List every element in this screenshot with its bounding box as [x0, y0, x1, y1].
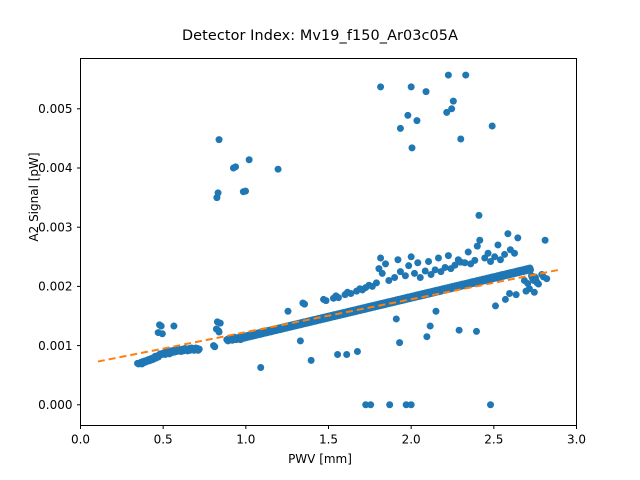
x-tick-label: 1.0: [236, 433, 255, 447]
scatter-point: [408, 144, 415, 151]
scatter-point: [404, 112, 411, 119]
scatter-point: [531, 289, 538, 296]
scatter-point: [367, 401, 374, 408]
y-tick-label: 0.000: [38, 398, 72, 412]
scatter-point: [417, 274, 424, 281]
figure-canvas: Detector Index: Mv19_f150_Ar03c05A A2 Si…: [0, 0, 640, 480]
scatter-point: [159, 330, 166, 337]
scatter-point: [413, 117, 420, 124]
scatter-point: [489, 122, 496, 129]
scatter-point: [170, 323, 177, 330]
scatter-point: [442, 264, 449, 271]
scatter-point: [465, 249, 472, 256]
scatter-point: [513, 291, 520, 298]
scatter-point: [391, 274, 398, 281]
scatter-point: [377, 83, 384, 90]
scatter-point: [257, 364, 264, 371]
scatter-point: [492, 302, 499, 309]
y-tick-label: 0.005: [38, 102, 72, 116]
scatter-point: [501, 251, 508, 258]
scatter-point: [435, 254, 442, 261]
scatter-point: [297, 337, 304, 344]
scatter-point: [196, 346, 203, 353]
scatter-point: [211, 343, 218, 350]
scatter-point: [422, 268, 429, 275]
x-tick-label: 2.0: [402, 433, 421, 447]
scatter-point: [382, 260, 389, 267]
scatter-point: [246, 156, 253, 163]
scatter-point: [445, 72, 452, 79]
y-axis-ticks: 0.0000.0010.0020.0030.0040.005: [38, 102, 80, 412]
axes-frame: [81, 59, 577, 426]
scatter-point: [543, 275, 550, 282]
scatter-point: [542, 237, 549, 244]
scatter-point: [397, 125, 404, 132]
scatter-point: [502, 296, 509, 303]
scatter-point: [301, 301, 308, 308]
x-tick-label: 0.0: [71, 433, 90, 447]
scatter-point: [450, 98, 457, 105]
scatter-point: [476, 237, 483, 244]
scatter-plot: 0.00.51.01.52.02.53.0 0.0000.0010.0020.0…: [0, 0, 640, 480]
scatter-point: [535, 281, 542, 288]
scatter-point: [323, 297, 330, 304]
scatter-point: [275, 166, 282, 173]
scatter-point: [308, 357, 315, 364]
x-tick-label: 0.5: [154, 433, 173, 447]
scatter-point: [414, 259, 421, 266]
scatter-point: [215, 189, 222, 196]
scatter-point: [456, 327, 463, 334]
scatter-point: [487, 401, 494, 408]
scatter-point: [427, 323, 434, 330]
scatter-point: [457, 136, 464, 143]
scatter-point: [216, 136, 223, 143]
scatter-point: [471, 257, 478, 264]
scatter-point: [423, 88, 430, 95]
scatter-point: [396, 339, 403, 346]
scatter-point: [445, 252, 452, 259]
scatter-point: [393, 315, 400, 322]
scatter-point: [354, 348, 361, 355]
x-tick-label: 3.0: [567, 433, 586, 447]
scatter-point: [527, 266, 534, 273]
scatter-point: [514, 234, 521, 241]
scatter-point: [462, 72, 469, 79]
scatter-point: [377, 254, 384, 261]
scatter-point: [494, 241, 501, 248]
scatter-point: [402, 272, 409, 279]
y-tick-label: 0.004: [38, 161, 72, 175]
scatter-point: [284, 308, 291, 315]
x-axis-ticks: 0.00.51.01.52.02.53.0: [71, 426, 586, 447]
scatter-point: [216, 328, 223, 335]
scatter-point: [473, 328, 480, 335]
y-tick-label: 0.001: [38, 339, 72, 353]
scatter-point: [217, 320, 224, 327]
scatter-point: [394, 256, 401, 263]
scatter-point: [386, 401, 393, 408]
scatter-point: [379, 270, 386, 277]
scatter-point: [343, 351, 350, 358]
scatter-point: [511, 250, 518, 257]
scatter-point: [504, 230, 511, 237]
scatter-point: [475, 212, 482, 219]
y-tick-label: 0.002: [38, 280, 72, 294]
scatter-point: [405, 262, 412, 269]
scatter-point: [242, 188, 249, 195]
scatter-point: [432, 308, 439, 315]
scatter-point: [423, 333, 430, 340]
scatter-point: [448, 105, 455, 112]
scatter-point: [334, 351, 341, 358]
scatter-point: [232, 163, 239, 170]
scatter-point: [373, 279, 380, 286]
scatter-point: [158, 323, 165, 330]
scatter-point: [425, 258, 432, 265]
scatter-point: [335, 294, 342, 301]
x-tick-label: 1.5: [319, 433, 338, 447]
x-tick-label: 2.5: [484, 433, 503, 447]
scatter-point: [411, 270, 418, 277]
scatter-point: [408, 401, 415, 408]
y-tick-label: 0.003: [38, 220, 72, 234]
scatter-point: [506, 290, 513, 297]
scatter-point: [485, 250, 492, 257]
scatter-point: [408, 83, 415, 90]
scatter-point: [408, 253, 415, 260]
scatter-point: [461, 259, 468, 266]
